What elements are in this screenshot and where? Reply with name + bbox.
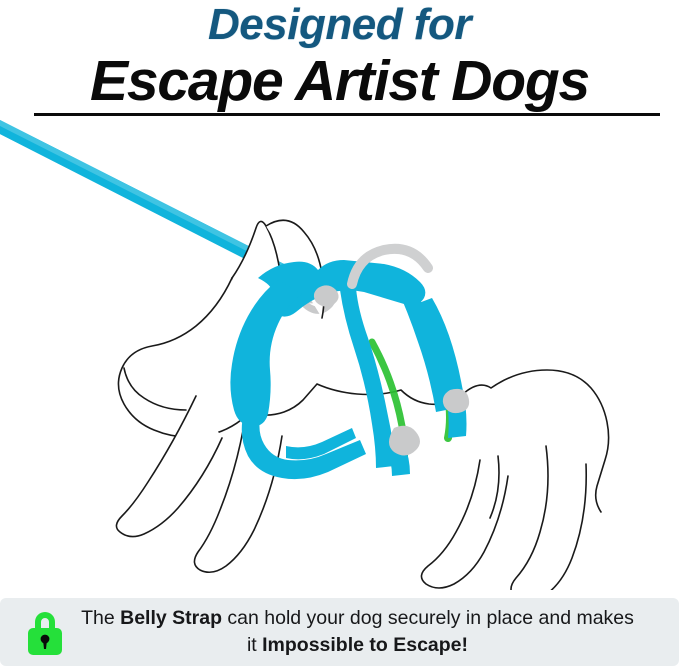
callout-text: The Belly Strap can hold your dog secure… xyxy=(72,605,679,659)
dog-harness-illustration xyxy=(0,110,679,590)
headline-line-secondary: Escape Artist Dogs xyxy=(0,49,679,113)
feature-callout-banner: The Belly Strap can hold your dog secure… xyxy=(0,598,679,666)
callout-text-bold-belly-strap: Belly Strap xyxy=(120,607,222,629)
headline-block: Designed for Escape Artist Dogs xyxy=(0,0,679,122)
callout-text-bold-impossible: Impossible to Escape! xyxy=(262,634,468,656)
headline-line-primary: Designed for xyxy=(0,0,679,50)
callout-text-prefix: The xyxy=(81,607,120,629)
product-feature-graphic: Designed for Escape Artist Dogs xyxy=(0,0,679,666)
padlock-icon xyxy=(18,604,72,660)
